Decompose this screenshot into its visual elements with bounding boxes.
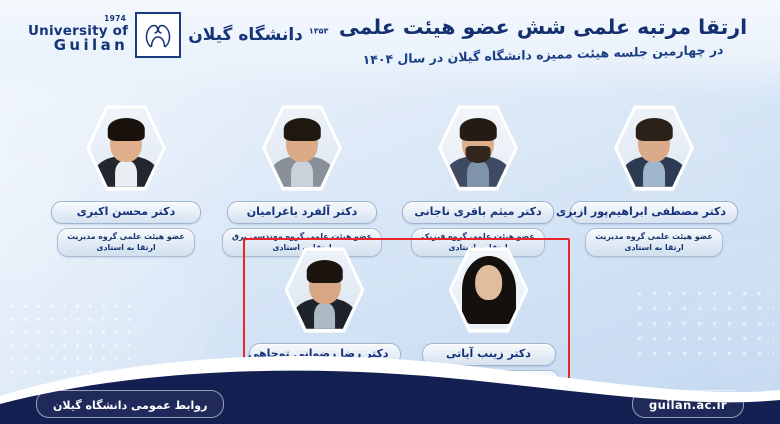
professors-row-top: دکتر مصطفی ابراهیم‌پور ازبری عضو هیئت عل…: [0, 104, 780, 257]
logo-guilan-word: Guilan: [28, 38, 128, 54]
photo-frame: [285, 246, 365, 334]
professor-name: دکتر محسن اکبری: [63, 204, 189, 220]
portrait-reza-rezvani-touchahi: [288, 250, 361, 330]
page-title: ارتقا مرتبه علمی شش عضو هیئت علمی: [328, 14, 758, 41]
professor-promotion: ارتقا به استادی: [67, 242, 185, 253]
dot-grid-pattern: [632, 286, 774, 360]
professor-card: دکتر میثم باقری ناجانی عضو هیئت علمی گرو…: [396, 104, 560, 257]
logo-founding-year: 1974: [104, 15, 126, 23]
portrait-meysam-bagheri-najani: [442, 108, 515, 188]
professor-name-pill: دکتر محسن اکبری: [51, 201, 201, 224]
logo-persian-name: ۱۳۵۳ دانشگاه گیلان: [188, 25, 328, 45]
website-url-pill[interactable]: guilan.ac.ir: [632, 390, 744, 418]
public-relations-pill: روابط عمومی دانشگاه گیلان: [36, 390, 224, 418]
portrait-zeinab-ayati: [452, 250, 525, 330]
professor-department: عضو هیئت علمی گروه مدیریت: [595, 231, 713, 242]
poster-canvas: 1974 University of Guilan ۱۳۵۳ دانشگاه گ…: [0, 0, 780, 424]
photo-frame: [262, 104, 342, 192]
footer: guilan.ac.ir روابط عمومی دانشگاه گیلان: [0, 384, 780, 424]
portrait-mohsen-akbari: [90, 108, 163, 188]
professor-department: عضو هیئت علمی گروه مهندسی برق: [232, 231, 372, 242]
photo-frame: [449, 246, 529, 334]
logo-english-text: 1974 University of Guilan: [28, 17, 128, 54]
portrait-alfred-baghramian: [266, 108, 339, 188]
public-relations-label: روابط عمومی دانشگاه گیلان: [53, 399, 207, 412]
professor-role-pill: عضو هیئت علمی گروه مدیریت ارتقا به استاد…: [57, 228, 195, 257]
professor-department: عضو هیئت علمی گروه مدیریت: [67, 231, 185, 242]
portrait-mostafa-ebrahimpour-azbari: [618, 108, 691, 188]
professor-name: دکتر مصطفی ابراهیم‌پور ازبری: [582, 204, 726, 220]
professor-card: دکتر مصطفی ابراهیم‌پور ازبری عضو هیئت عل…: [572, 104, 736, 257]
professor-card: دکتر محسن اکبری عضو هیئت علمی گروه مدیری…: [44, 104, 208, 257]
photo-frame: [438, 104, 518, 192]
professor-name: دکتر آلفرد باغرامیان: [239, 204, 365, 220]
professor-name-pill: دکتر مصطفی ابراهیم‌پور ازبری: [570, 201, 738, 224]
website-url: guilan.ac.ir: [649, 398, 727, 412]
university-logo: 1974 University of Guilan ۱۳۵۳ دانشگاه گ…: [28, 12, 328, 58]
photo-frame: [614, 104, 694, 192]
logo-persian-year: ۱۳۵۳: [309, 26, 329, 35]
logo-persian-text: دانشگاه گیلان: [188, 25, 303, 45]
professor-card: دکتر آلفرد باغرامیان عضو هیئت علمی گروه …: [220, 104, 384, 257]
professor-department: عضو هیئت علمی گروه فیزیک: [421, 231, 534, 242]
photo-frame: [86, 104, 166, 192]
professor-name-pill: دکتر میثم باقری ناجانی: [402, 201, 553, 224]
professor-name: دکتر میثم باقری ناجانی: [414, 204, 541, 220]
guilan-university-emblem-icon: [135, 12, 181, 58]
professor-role-pill: عضو هیئت علمی گروه مدیریت ارتقا به استاد…: [585, 228, 723, 257]
title-block: ارتقا مرتبه علمی شش عضو هیئت علمی در چها…: [328, 14, 758, 64]
professor-name-pill: دکتر آلفرد باغرامیان: [227, 201, 377, 224]
professor-promotion: ارتقا به استادی: [595, 242, 713, 253]
